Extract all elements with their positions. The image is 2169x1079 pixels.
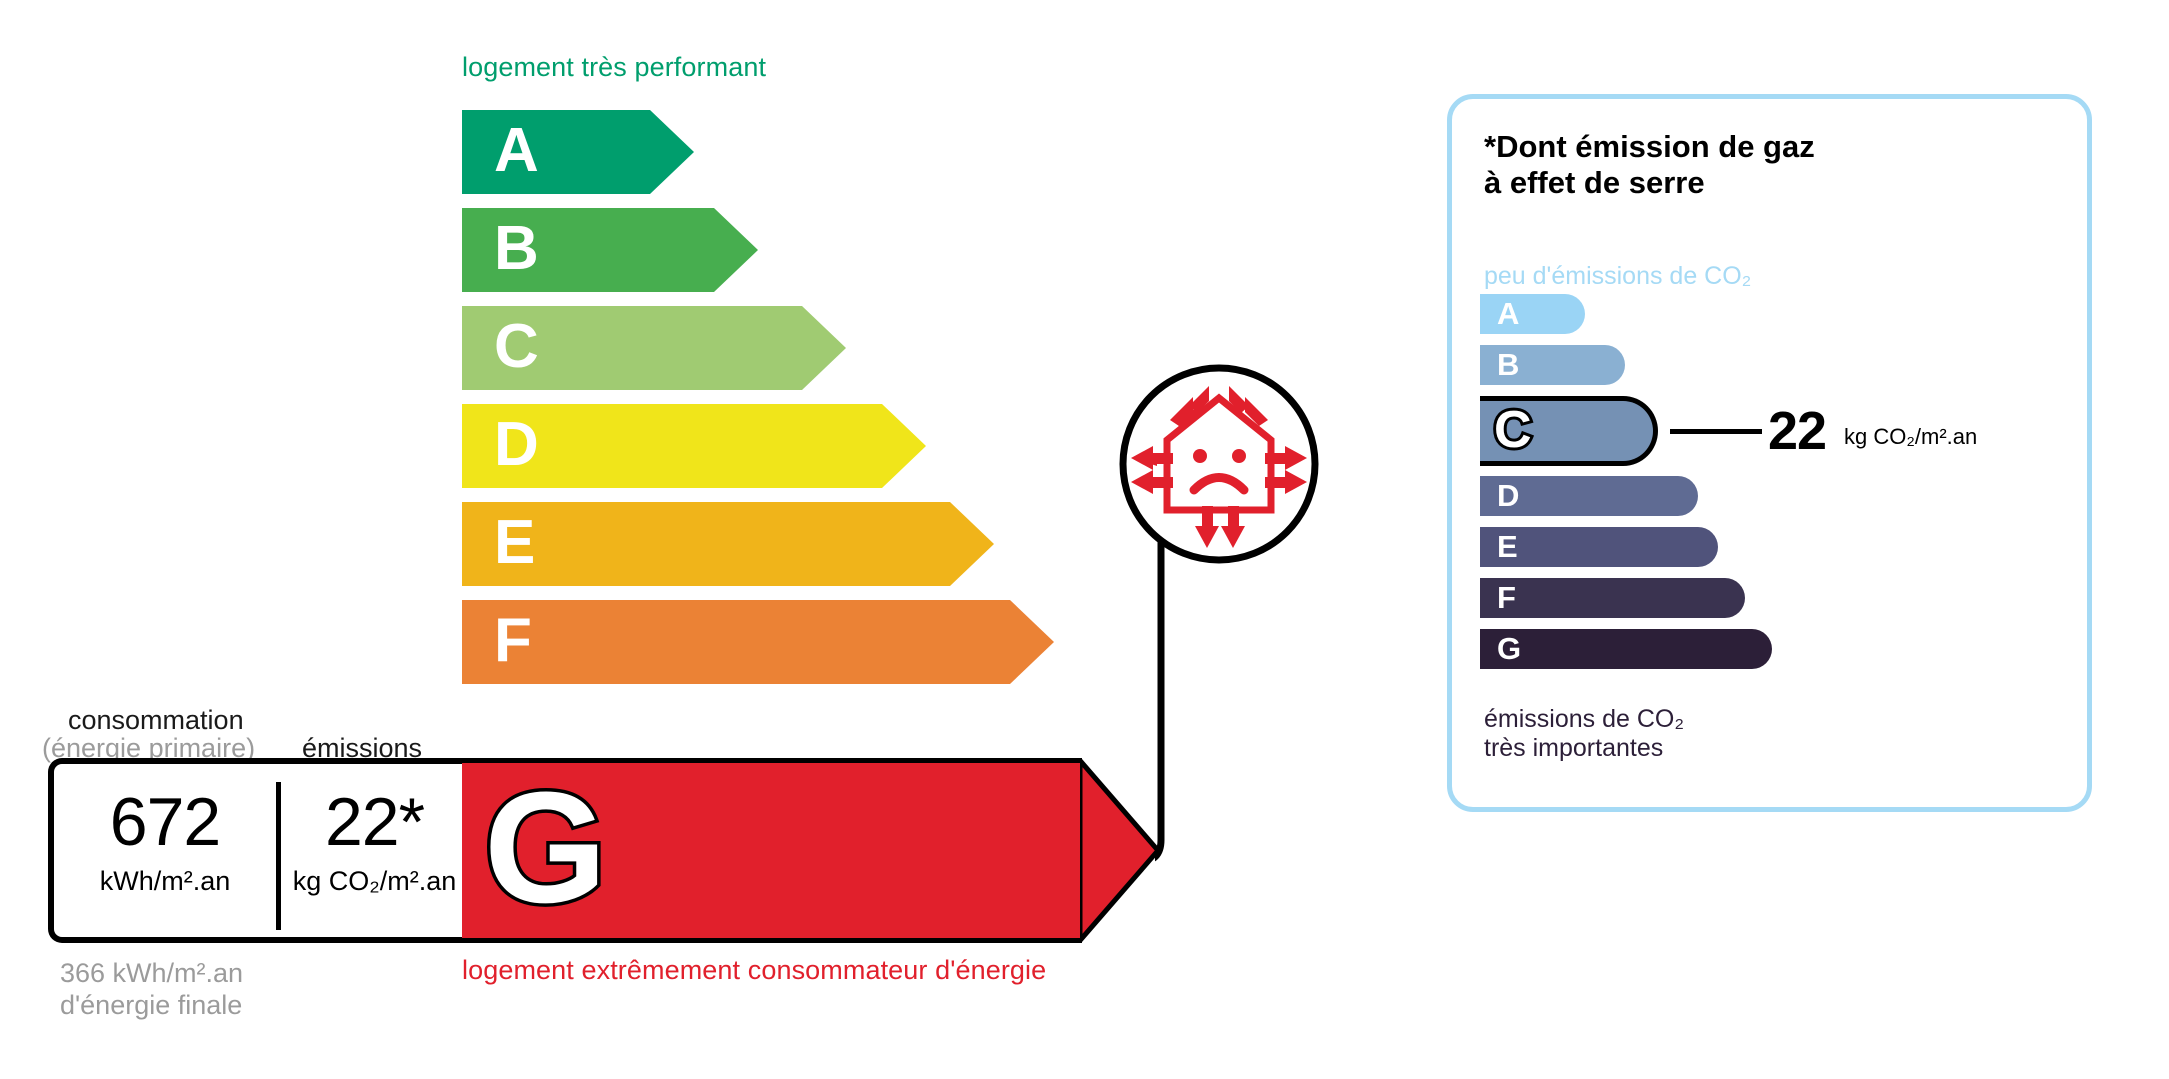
primary-energy-cell: 672 kWh/m².an — [54, 764, 276, 937]
energy-class-letter-g: G — [484, 768, 607, 926]
ghg-bar-g[interactable]: G — [1480, 629, 1772, 669]
final-energy-value: 366 kWh/m².an — [60, 958, 243, 990]
energy-class-letter-c: C — [494, 316, 539, 378]
co2-emission-value: 22* — [281, 788, 468, 856]
energy-bar-f-arrow-tip — [1010, 600, 1054, 684]
energy-class-row-f[interactable]: F — [462, 600, 1054, 684]
ghg-low-caption: peu d'émissions de CO₂ — [1484, 262, 1751, 291]
energy-bar-g-arrow-tip — [1080, 758, 1162, 943]
ghg-bar-f[interactable]: F — [1480, 578, 1745, 618]
energy-class-letter-b: B — [494, 218, 539, 280]
label-consommation: consommation — [68, 705, 244, 736]
energy-class-row-a[interactable]: A — [462, 110, 694, 194]
energy-class-letter-a: A — [494, 120, 539, 182]
ghg-letter-b: B — [1497, 349, 1519, 380]
ghg-value: 22 — [1768, 396, 1826, 466]
ghg-letter-e: E — [1497, 531, 1518, 562]
energy-class-letter-e: E — [494, 512, 535, 574]
energy-class-row-d[interactable]: D — [462, 404, 926, 488]
ghg-panel-title: *Dont émission de gaz à effet de serre — [1484, 129, 1815, 201]
consumption-value-box: 672 kWh/m².an 22* kg CO₂/m².an — [48, 758, 468, 943]
ghg-bar-e[interactable]: E — [1480, 527, 1718, 567]
energy-bar-f-body — [462, 600, 1010, 684]
ghg-letter-a: A — [1497, 298, 1519, 329]
energy-class-row-g-highlighted[interactable]: G — [462, 758, 1162, 943]
primary-energy-unit: kWh/m².an — [54, 868, 276, 895]
energy-low-caption: logement très performant — [462, 52, 766, 83]
energy-bar-a-arrow-tip — [650, 110, 694, 194]
co2-emission-cell: 22* kg CO₂/m².an — [281, 764, 468, 937]
primary-energy-value: 672 — [54, 788, 276, 856]
badge-connector-line — [1155, 540, 1355, 870]
ghg-bar-c-highlighted[interactable]: C — [1480, 396, 1658, 466]
energy-bar-d-arrow-tip — [882, 404, 926, 488]
ghg-emissions-panel: *Dont émission de gaz à effet de serre p… — [1447, 94, 2092, 812]
ghg-letter-f: F — [1497, 582, 1516, 613]
energy-performance-panel: logement très performant A B C — [0, 0, 1330, 1079]
energy-class-row-c[interactable]: C — [462, 306, 846, 390]
energy-bar-c-arrow-tip — [802, 306, 846, 390]
ghg-letter-g: G — [1497, 633, 1521, 664]
dpe-diagram: logement très performant A B C — [0, 0, 2169, 1079]
final-energy-label: d'énergie finale — [60, 990, 242, 1022]
energy-class-letter-d: D — [494, 414, 539, 476]
energy-class-letter-f: F — [494, 610, 532, 672]
ghg-value-unit: kg CO₂/m².an — [1844, 396, 1977, 478]
ghg-letter-c: C — [1494, 404, 1532, 456]
ghg-bar-a[interactable]: A — [1480, 294, 1585, 334]
ghg-letter-d: D — [1497, 480, 1519, 511]
energy-bar-b-arrow-tip — [714, 208, 758, 292]
sad-house-heat-loss-icon — [1117, 362, 1321, 566]
energy-bar-a-body — [462, 110, 650, 194]
ghg-bar-b[interactable]: B — [1480, 345, 1625, 385]
energy-bar-e-arrow-tip — [950, 502, 994, 586]
co2-emission-unit: kg CO₂/m².an — [281, 868, 468, 895]
ghg-high-caption: émissions de CO₂ très importantes — [1484, 705, 1684, 763]
energy-high-caption: logement extrêmement consommateur d'éner… — [462, 955, 1046, 986]
ghg-bar-d[interactable]: D — [1480, 476, 1698, 516]
ghg-value-leader-line — [1670, 429, 1762, 434]
energy-class-row-e[interactable]: E — [462, 502, 994, 586]
energy-class-row-b[interactable]: B — [462, 208, 758, 292]
